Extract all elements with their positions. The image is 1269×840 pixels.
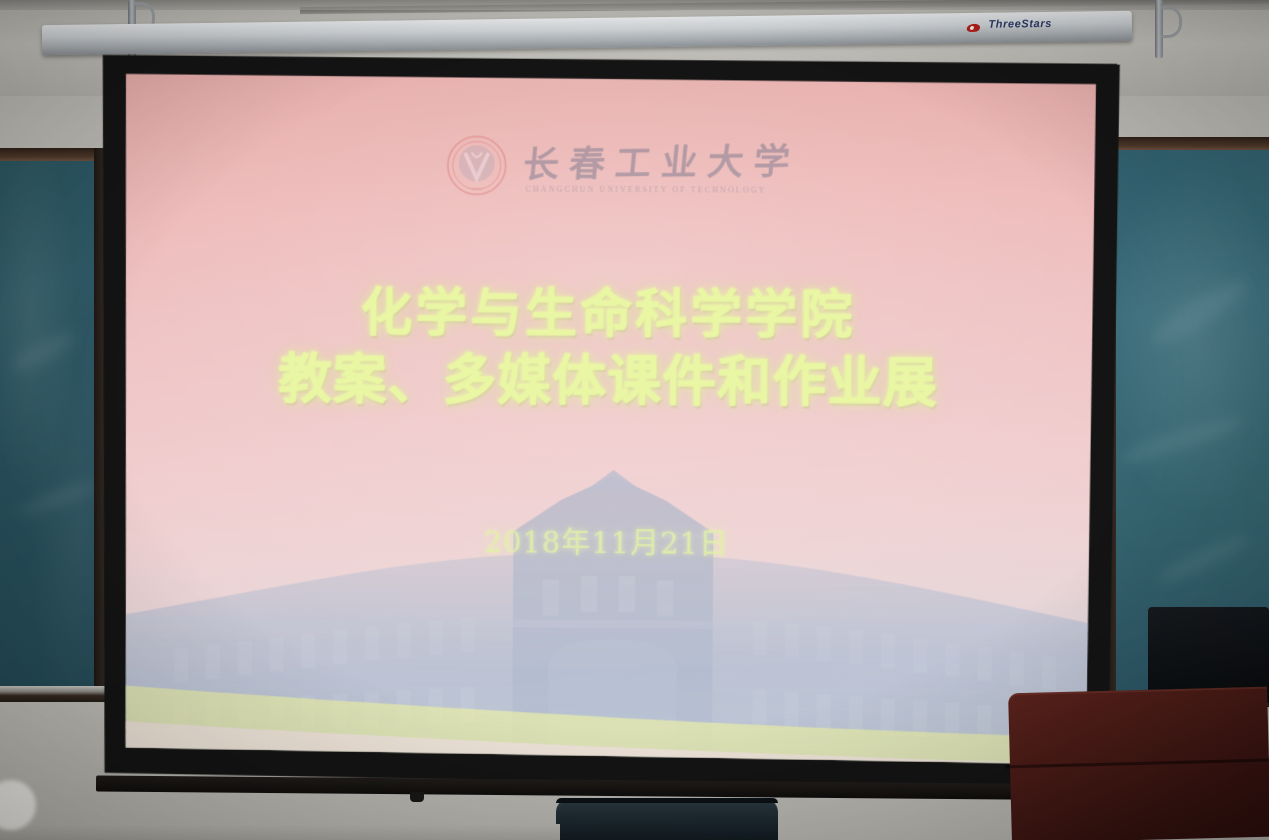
slide-date: 2018年11月21日 — [115, 517, 1101, 566]
classroom-scene: ThreeStars — [0, 0, 1269, 840]
chalk-smudge — [7, 326, 79, 378]
projector-screen: 1952 长春工业大学 CHANGCHUN UNIVERSITY OF TECH… — [88, 50, 1130, 796]
university-english-name: CHANGCHUN UNIVERSITY OF TECHNOLOGY — [525, 185, 766, 195]
chalk-smudge — [1116, 410, 1246, 469]
threestars-logo-mark-icon — [966, 24, 981, 32]
audience-chair-back — [556, 798, 778, 840]
screen-brand-label: ThreeStars — [988, 18, 1052, 31]
chalkboard-left — [0, 148, 106, 702]
university-seal-icon: 1952 — [446, 134, 508, 196]
svg-text:1952: 1952 — [472, 187, 483, 192]
slide-title-line-2: 教案、多媒体课件和作业展 — [116, 348, 1102, 417]
chalk-smudge — [1155, 530, 1253, 589]
chalk-smudge — [1145, 273, 1252, 353]
chalk-smudge — [14, 477, 100, 521]
university-logo-lockup: 1952 长春工业大学 CHANGCHUN UNIVERSITY OF TECH… — [446, 129, 807, 212]
presentation-slide: 1952 长春工业大学 CHANGCHUN UNIVERSITY OF TECH… — [114, 68, 1104, 774]
slide-title-line-1: 化学与生命科学学院 — [116, 283, 1102, 350]
front-desk-edge — [0, 824, 560, 840]
university-chinese-name: 长春工业大学 — [521, 132, 803, 188]
chalkboard-left-surface — [0, 161, 106, 686]
chalkboard-right-frame-top — [1104, 137, 1269, 150]
chalkboard-left-frame-top — [0, 148, 106, 161]
chalkboard-left-frame-bottom — [0, 686, 106, 702]
slide-title-block: 化学与生命科学学院 教案、多媒体课件和作业展 — [116, 283, 1103, 418]
slide-bottom-swoosh — [114, 650, 1104, 774]
screen-pull-tab[interactable] — [410, 792, 424, 802]
audience-chair-top-edge — [556, 798, 778, 803]
